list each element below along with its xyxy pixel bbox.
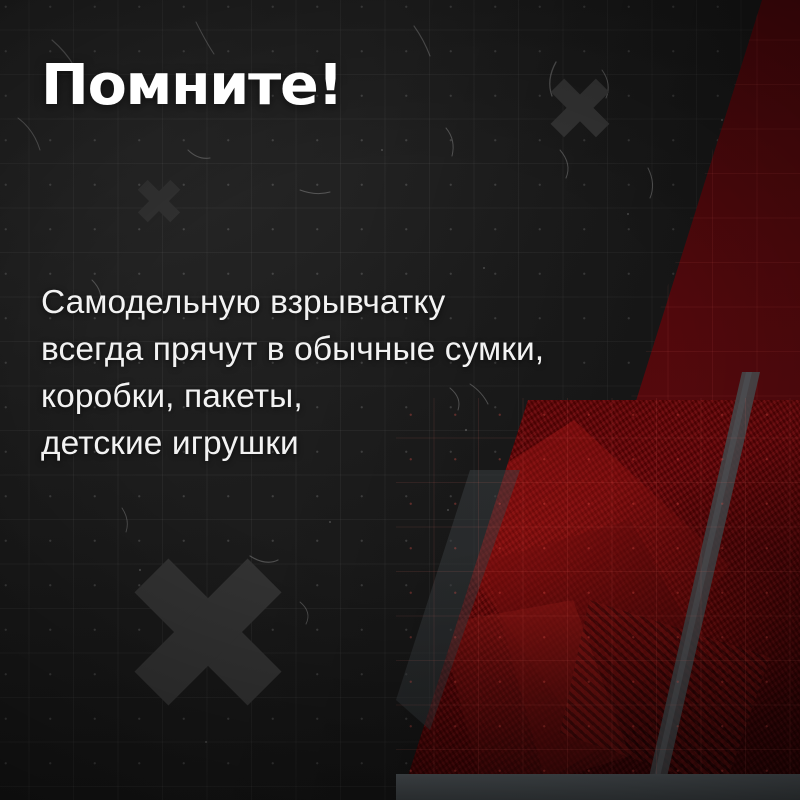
page-title: Помните!: [41, 57, 342, 115]
body-message: Самодельную взрывчатку всегда прячут в о…: [41, 279, 544, 467]
poster-canvas: Помните! Самодельную взрывчатку всегда п…: [0, 0, 800, 800]
